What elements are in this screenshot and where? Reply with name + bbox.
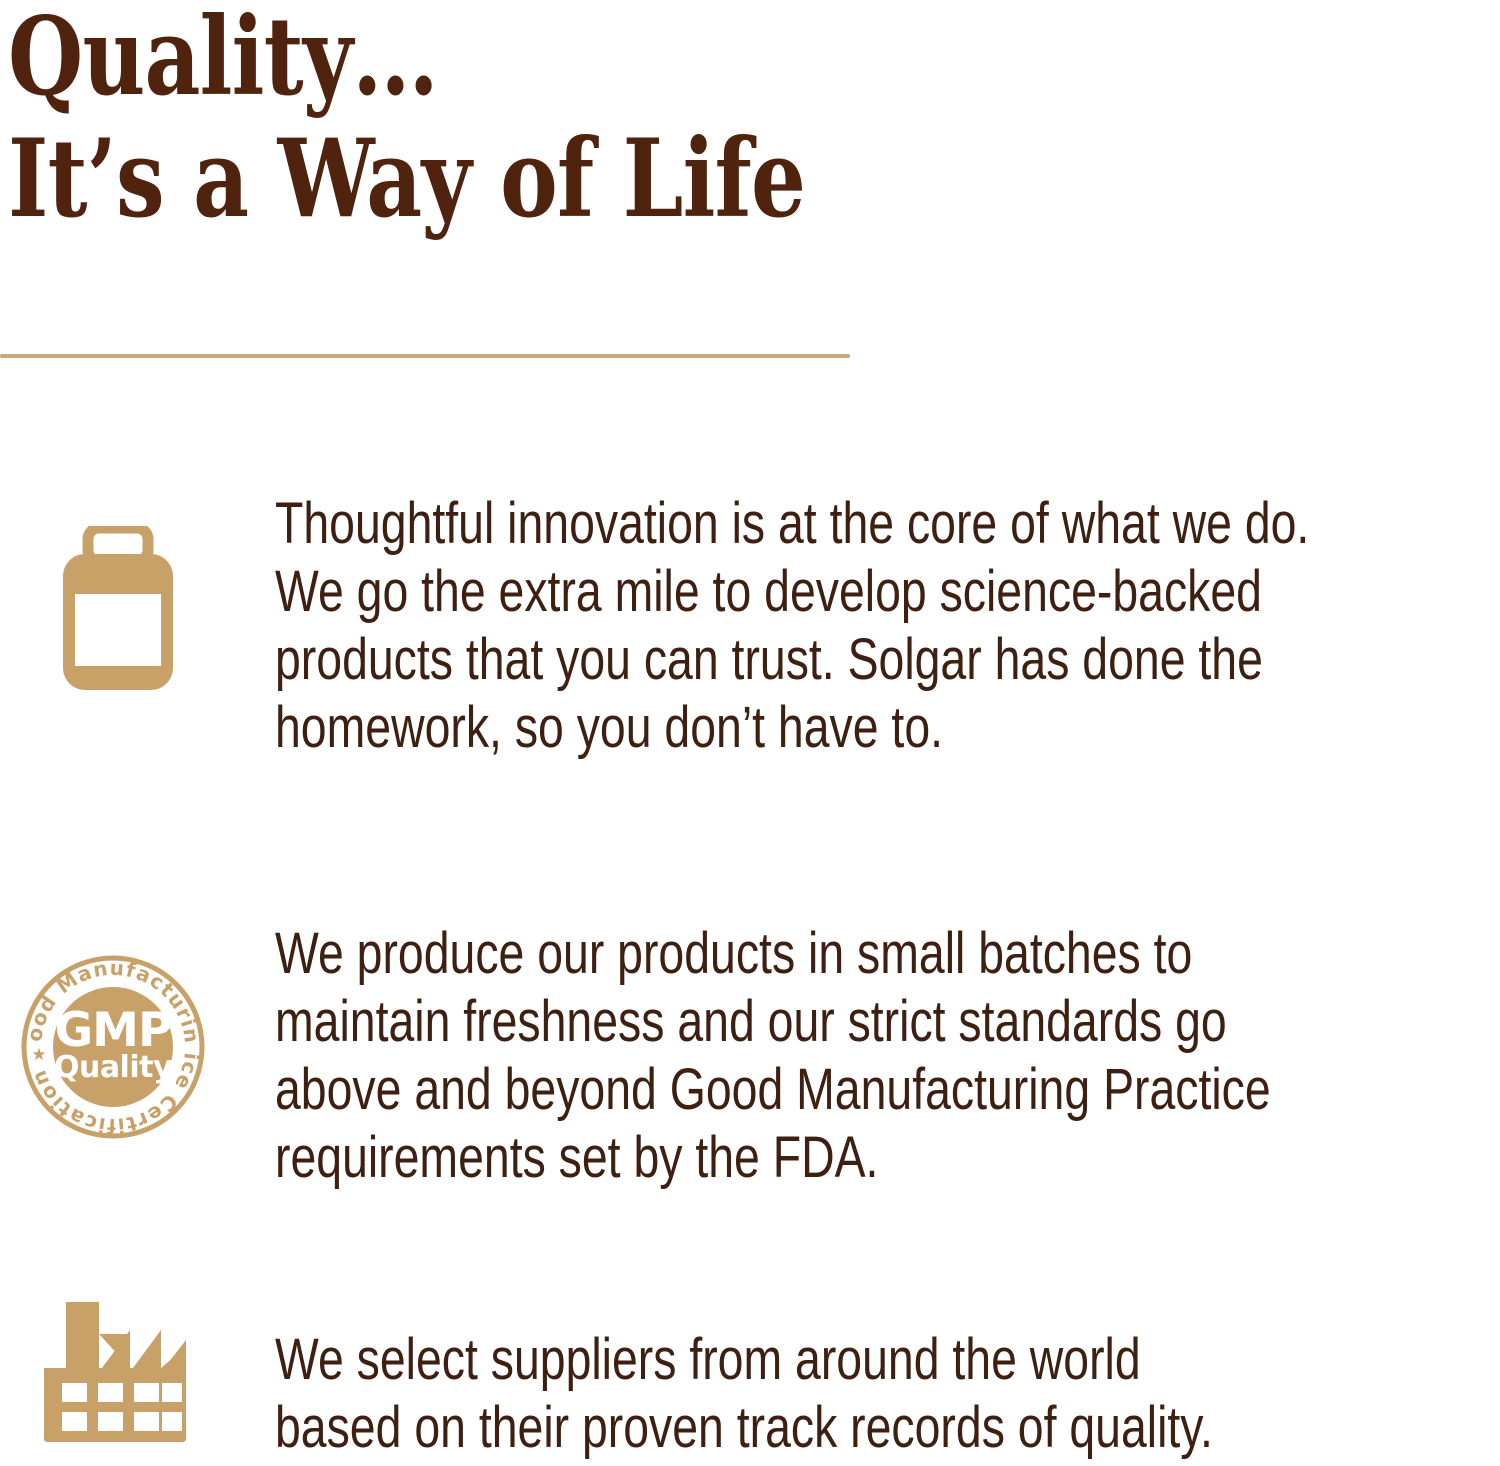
feature-icon-container [0, 1296, 275, 1456]
feature-text-innovation: Thoughtful innovation is at the core of … [275, 490, 1475, 762]
gmp-quality-seal-icon: Good Manufacturing Practice Certificatio… [20, 954, 206, 1145]
feature-row-innovation: Thoughtful innovation is at the core of … [0, 488, 1500, 762]
page-title-line-1: Quality… [8, 0, 968, 118]
feature-text-small-batches: We produce our products in small batches… [275, 920, 1475, 1192]
svg-text:★: ★ [31, 1045, 46, 1065]
feature-icon-container [0, 488, 275, 668]
feature-row-small-batches: Good Manufacturing Practice Certificatio… [0, 908, 1500, 1192]
feature-icon-container: Good Manufacturing Practice Certificatio… [0, 908, 275, 1108]
page-title-line-2: It’s a Way of Life [8, 118, 968, 240]
page-title: Quality… It’s a Way of Life [8, 0, 968, 240]
feature-row-suppliers: We select suppliers from around the worl… [0, 1296, 1500, 1462]
section-divider [0, 354, 850, 358]
supplement-jar-icon [62, 526, 174, 696]
factory-icon [42, 1300, 186, 1449]
feature-text-suppliers: We select suppliers from around the worl… [275, 1326, 1475, 1462]
